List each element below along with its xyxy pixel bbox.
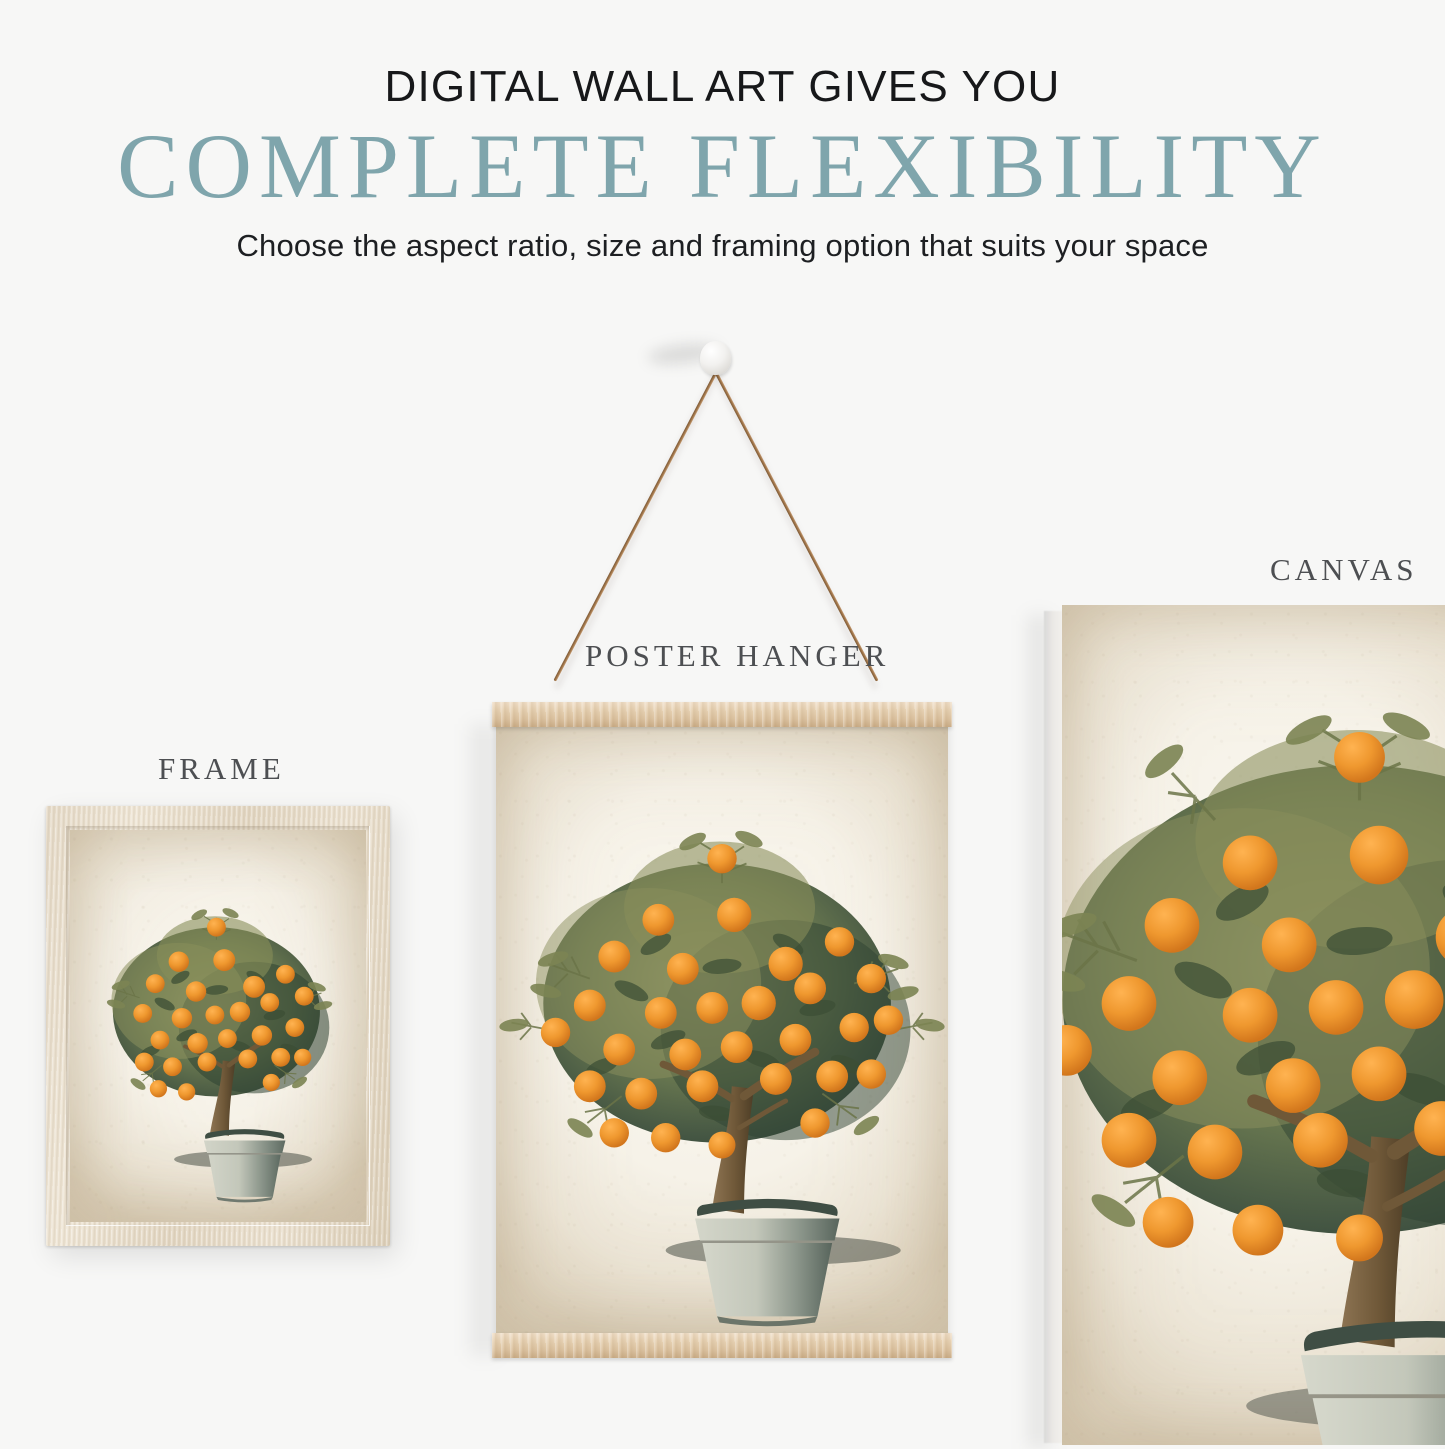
frame-artwork (70, 830, 366, 1222)
artwork-orange-tree-frame (70, 830, 366, 1222)
canvas-label: CANVAS (1270, 552, 1417, 588)
frame-label: FRAME (158, 751, 285, 787)
hanger-cord-left (553, 372, 717, 682)
orange-tree-illustration (1062, 605, 1445, 1445)
orange-tree-illustration (70, 830, 366, 1222)
framed-print[interactable] (46, 806, 390, 1246)
poster-hanger-bottom-rail[interactable] (492, 1333, 952, 1358)
canvas-artwork (1062, 605, 1445, 1445)
frame-moulding (46, 806, 390, 1246)
orange-tree-illustration (496, 724, 948, 1336)
header-subtitle: Choose the aspect ratio, size and framin… (0, 228, 1445, 264)
wall-hook-icon (700, 341, 731, 375)
canvas-print[interactable] (1062, 605, 1445, 1445)
poster-hanger-label: POSTER HANGER (585, 638, 889, 674)
artwork-orange-tree-canvas (1062, 605, 1445, 1445)
header-headline: COMPLETE FLEXIBILITY (0, 118, 1445, 215)
poster-hanger-top-rail[interactable] (492, 702, 952, 727)
poster-artwork[interactable] (496, 724, 948, 1336)
poster-drop-shadow (470, 724, 498, 1356)
hanger-cord-right (715, 372, 879, 682)
mockup-stage: DIGITAL WALL ART GIVES YOU COMPLETE FLEX… (0, 0, 1445, 1445)
artwork-orange-tree-poster (496, 724, 948, 1336)
header-kicker: DIGITAL WALL ART GIVES YOU (0, 62, 1445, 112)
